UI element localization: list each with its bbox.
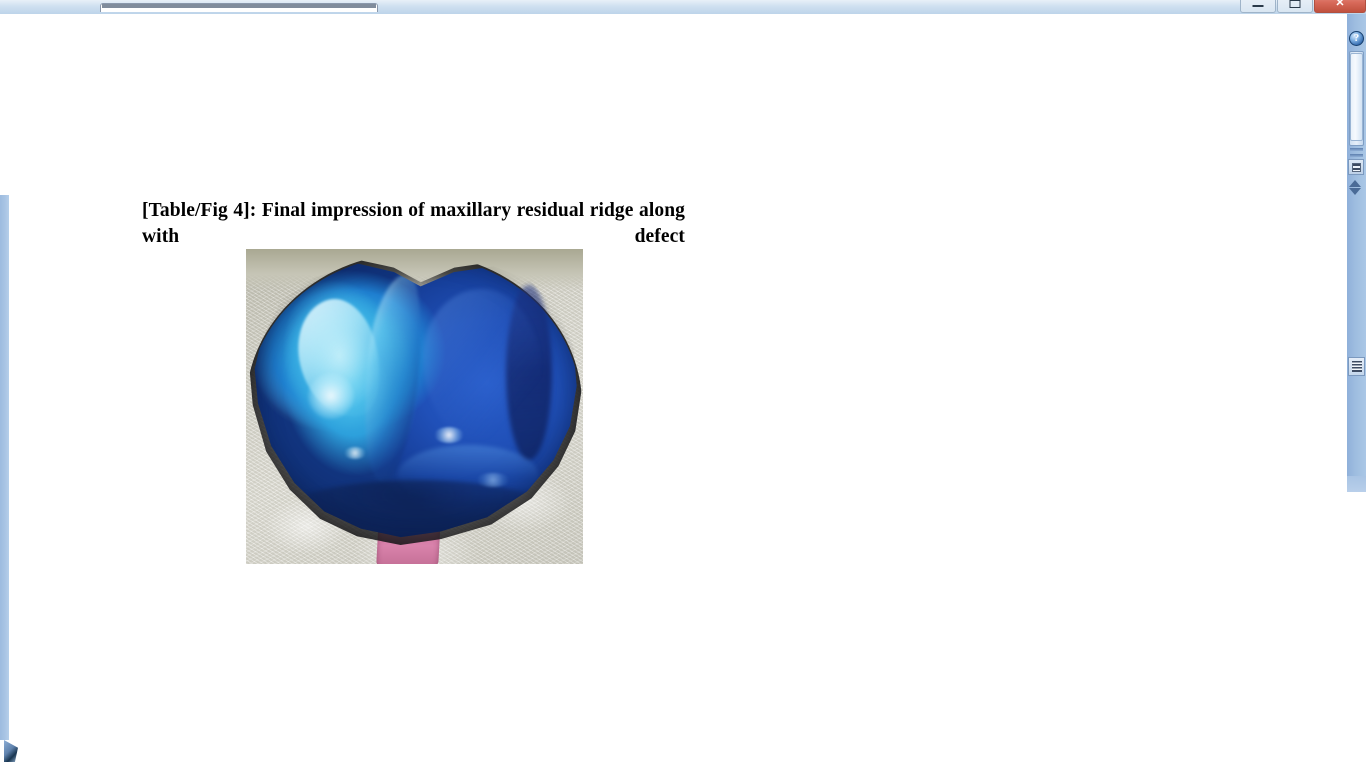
application-window: ✕ [Table/Fig 4]: Final impression of max… [0,0,1366,768]
rail-separator-top [1350,148,1363,151]
browse-object-icon [1352,163,1361,172]
impression-specular-2 [344,447,366,459]
minimize-button[interactable] [1240,0,1276,13]
next-page-arrow-icon[interactable] [1349,188,1361,195]
window-controls: ✕ [1239,0,1366,14]
impression-specular-3 [476,473,510,487]
previous-page-arrow-icon[interactable] [1349,180,1361,187]
view-lines-button[interactable] [1348,357,1365,376]
close-button[interactable]: ✕ [1314,0,1366,13]
help-icon[interactable]: ? [1347,28,1366,48]
window-tab-highlight [102,4,376,8]
help-icon-disc: ? [1349,31,1364,46]
minimize-icon [1253,5,1264,7]
left-gutter-band [0,195,9,740]
vertical-scrollbar-thumb[interactable] [1350,53,1363,141]
document-page: [Table/Fig 4]: Final impression of maxil… [0,14,1347,768]
maximize-icon [1290,0,1301,8]
rail-tail [1347,476,1366,492]
impression-specular-1 [434,427,464,443]
close-icon: ✕ [1335,0,1344,8]
select-browse-object-button[interactable] [1348,159,1364,175]
lines-icon [1352,361,1362,372]
figure-image [246,249,583,564]
maximize-button[interactable] [1277,0,1313,13]
rail-separator-bottom [1350,154,1363,157]
impression-left-specular [308,373,354,419]
help-icon-glyph: ? [1350,31,1363,46]
window-title-bar: ✕ [0,0,1366,14]
